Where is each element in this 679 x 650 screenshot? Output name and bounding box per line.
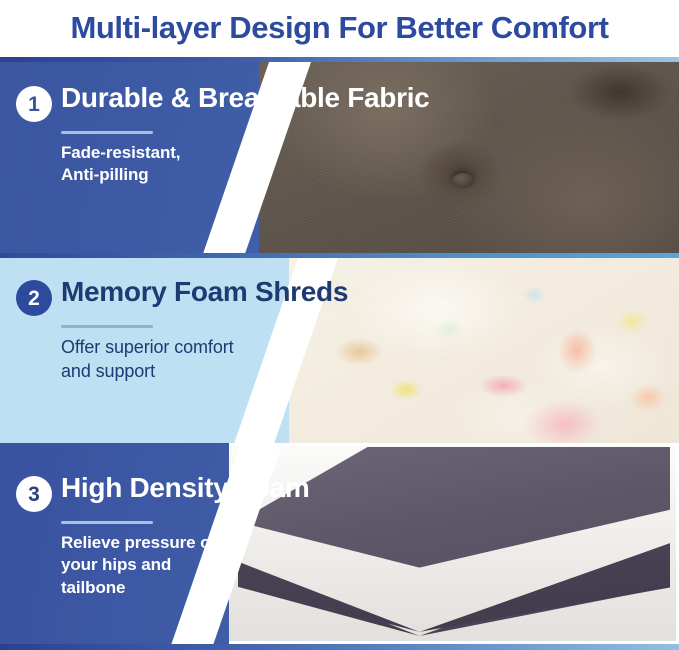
panel-2-number-badge: 2 (16, 280, 52, 316)
panel-1-subtext-line-1: Fade-resistant, (61, 142, 429, 164)
panel-2-subtext-line-2: and support (61, 360, 348, 384)
panel-1-subtext-line-2: Anti-pilling (61, 164, 429, 186)
panel-1-divider (61, 131, 153, 134)
panel-1-heading-row: 1 Durable & Breathable Fabric (16, 83, 429, 122)
panel-3-subtext: Relieve pressure on your hips and tailbo… (61, 532, 310, 599)
panel-2-top-strip (0, 253, 679, 258)
panel-2-subtext-line-1: Offer superior comfort (61, 336, 348, 360)
panel-3-divider (61, 521, 153, 524)
panel-2-text-block: 2 Memory Foam Shreds Offer superior comf… (16, 277, 348, 384)
panel-1-number-badge: 1 (16, 86, 52, 122)
panel-3-subtext-line-1: Relieve pressure on (61, 532, 310, 554)
panel-2-heading: Memory Foam Shreds (61, 277, 348, 307)
panel-3-subtext-line-3: tailbone (61, 577, 310, 599)
panel-3-heading-row: 3 High Density Foam (16, 473, 310, 512)
panel-1-top-strip (0, 57, 679, 62)
panel-2-subtext: Offer superior comfort and support (61, 336, 348, 384)
feature-panel-3: 3 High Density Foam Relieve pressure on … (0, 443, 679, 650)
feature-panel-1: 1 Durable & Breathable Fabric Fade-resis… (0, 57, 679, 253)
panel-3-number-badge: 3 (16, 476, 52, 512)
page-title-bar: Multi-layer Design For Better Comfort (0, 0, 679, 56)
panel-3-bottom-strip (0, 644, 679, 650)
page-title: Multi-layer Design For Better Comfort (70, 10, 608, 46)
infographic-root: Multi-layer Design For Better Comfort 1 … (0, 0, 679, 650)
panel-3-text-block: 3 High Density Foam Relieve pressure on … (16, 473, 310, 599)
panel-1-heading: Durable & Breathable Fabric (61, 83, 429, 113)
feature-panel-2: 2 Memory Foam Shreds Offer superior comf… (0, 253, 679, 443)
panel-3-heading: High Density Foam (61, 473, 310, 503)
panel-2-divider (61, 325, 153, 328)
panel-2-heading-row: 2 Memory Foam Shreds (16, 277, 348, 316)
panel-1-text-block: 1 Durable & Breathable Fabric Fade-resis… (16, 83, 429, 187)
panel-1-subtext: Fade-resistant, Anti-pilling (61, 142, 429, 187)
panel-3-subtext-line-2: your hips and (61, 554, 310, 576)
fabric-button-tuft (452, 173, 474, 188)
